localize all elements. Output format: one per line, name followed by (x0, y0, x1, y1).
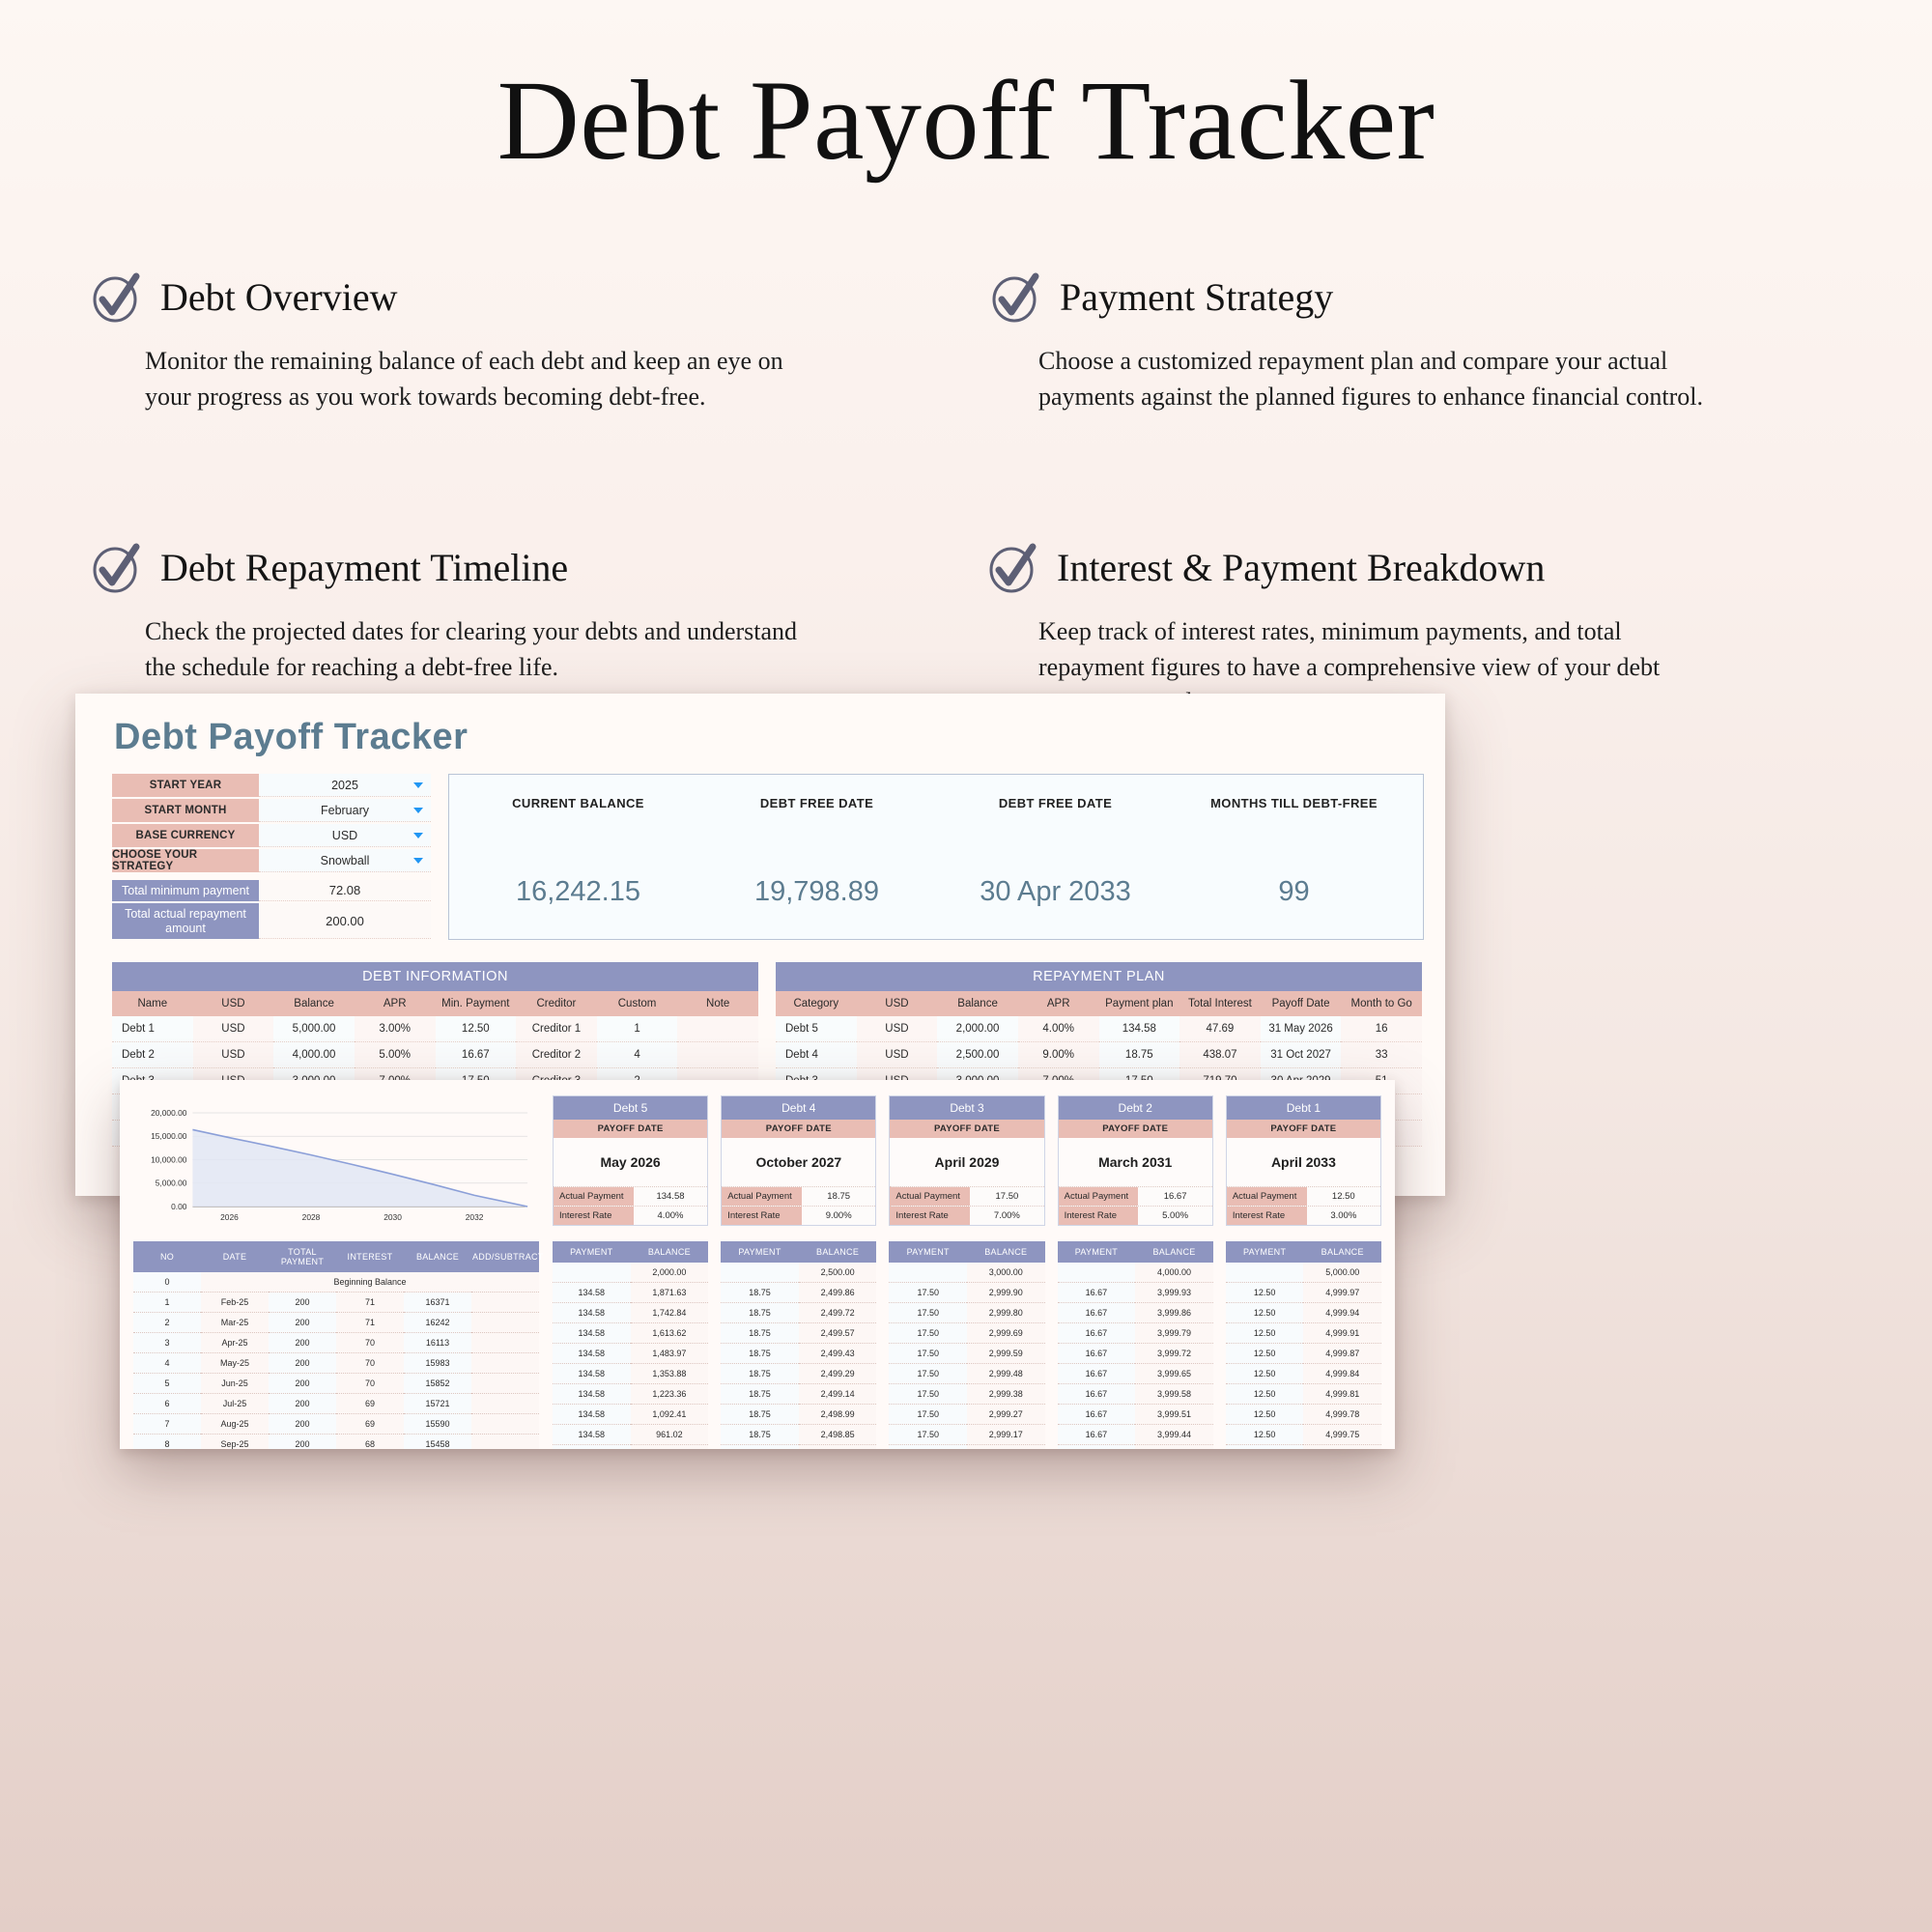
table-cell: 17.50 (889, 1323, 967, 1344)
feature-title: Payment Strategy (1060, 274, 1333, 320)
column-header: Custom (597, 991, 678, 1016)
table-row[interactable]: 134.581,223.36 (553, 1384, 708, 1405)
debt-card[interactable]: Debt 1PAYOFF DATEApril 2033Actual Paymen… (1226, 1095, 1381, 1226)
table-cell: 961.02 (631, 1425, 709, 1445)
features-grid: Debt Overview Monitor the remaining bala… (0, 184, 1932, 722)
debt-card-title: Debt 3 (890, 1096, 1043, 1120)
table-cell: 5,000.00 (273, 1016, 355, 1042)
table-cell: 2,000.00 (631, 1263, 709, 1283)
table-cell: USD (857, 1042, 938, 1068)
table-cell: 15983 (404, 1353, 471, 1374)
table-row[interactable]: 4May-252007015983 (133, 1353, 539, 1374)
table-row[interactable]: 3Apr-252007016113 (133, 1333, 539, 1353)
table-row[interactable]: 2,500.00 (721, 1263, 876, 1283)
debt-card-subtitle: PAYOFF DATE (554, 1120, 707, 1138)
table-cell: 4,999.97 (1303, 1283, 1381, 1303)
table-cell: 200 (269, 1333, 336, 1353)
totals-panel: Total minimum payment72.08Total actual r… (112, 880, 431, 939)
table-row[interactable]: 12.504,999.78 (1226, 1405, 1381, 1425)
debt-card-title: Debt 4 (722, 1096, 875, 1120)
debt-card-key: Interest Rate (890, 1207, 970, 1225)
table-cell: 1,742.84 (631, 1303, 709, 1323)
table-row[interactable]: 16.673,999.65 (1058, 1364, 1213, 1384)
table-cell: 200 (269, 1435, 336, 1450)
table-cell: 18.75 (721, 1445, 799, 1450)
setting-row[interactable]: BASE CURRENCYUSD (112, 824, 431, 847)
table-row[interactable]: 18.752,499.86 (721, 1283, 876, 1303)
column-header: BALANCE (1303, 1241, 1381, 1263)
table-row[interactable]: 134.58829.19 (553, 1445, 708, 1450)
table-row[interactable]: 12.504,999.87 (1226, 1344, 1381, 1364)
debt-card-value: 5.00% (1138, 1207, 1211, 1225)
table-cell: 68 (336, 1435, 404, 1450)
table-cell: 134.58 (553, 1405, 631, 1425)
table-row[interactable]: 16.673,999.44 (1058, 1425, 1213, 1445)
total-value: 200.00 (259, 903, 431, 939)
table-cell: 134.58 (553, 1344, 631, 1364)
feature-heading: Interest & Payment Breakdown (985, 541, 1843, 595)
table-row[interactable]: 16.673,999.72 (1058, 1344, 1213, 1364)
table-cell: 2,999.59 (967, 1344, 1045, 1364)
debt-card-row: Actual Payment12.50 (1227, 1186, 1380, 1206)
table-cell: Debt 4 (776, 1042, 857, 1068)
table-cell: 47.69 (1179, 1016, 1261, 1042)
table-cell: 2,499.14 (799, 1384, 877, 1405)
column-header: BALANCE (631, 1241, 709, 1263)
debt-card-row: Interest Rate4.00% (554, 1206, 707, 1225)
kpi-value: 16,242.15 (459, 876, 697, 914)
table-cell: 134.58 (553, 1303, 631, 1323)
table-row[interactable]: 0Beginning Balance (133, 1272, 539, 1293)
table-cell (1226, 1263, 1304, 1283)
table-row[interactable]: 17.502,999.48 (889, 1364, 1044, 1384)
table-row[interactable]: 134.58961.02 (553, 1425, 708, 1445)
table-row[interactable]: 4,000.00 (1058, 1263, 1213, 1283)
table-cell: 2,499.86 (799, 1283, 877, 1303)
column-header: PAYMENT (1058, 1241, 1136, 1263)
debt-schedule-table[interactable]: PAYMENTBALANCE3,000.0017.502,999.9017.50… (889, 1241, 1044, 1449)
table-cell: 134.58 (553, 1283, 631, 1303)
table-cell: 1 (133, 1293, 201, 1313)
table-row[interactable]: 18.752,499.72 (721, 1303, 876, 1323)
table-cell: 6 (133, 1394, 201, 1414)
table-cell: 134.58 (553, 1364, 631, 1384)
table-cell: 70 (336, 1353, 404, 1374)
chart-canvas: 0.005,000.0010,000.0015,000.0020,000.002… (133, 1105, 535, 1226)
table-cell: 2,999.90 (967, 1283, 1045, 1303)
table-cell (1058, 1263, 1136, 1283)
table-cell: 2,499.57 (799, 1323, 877, 1344)
table-cell: 200 (269, 1313, 336, 1333)
column-header: BALANCE (404, 1241, 471, 1272)
debt-card-title: Debt 5 (554, 1096, 707, 1120)
table-row[interactable]: 5,000.00 (1226, 1263, 1381, 1283)
table-cell: 16.67 (1058, 1364, 1136, 1384)
table-cell: 16.67 (1058, 1445, 1136, 1450)
column-header: PAYMENT (721, 1241, 799, 1263)
table-cell: Debt 1 (112, 1016, 193, 1042)
table-banner: DEBT INFORMATION (112, 962, 758, 991)
table-cell: 18.75 (721, 1384, 799, 1405)
setting-value[interactable]: 2025 (259, 774, 431, 797)
debt-card-key: Interest Rate (722, 1207, 802, 1225)
table-cell: 134.58 (553, 1425, 631, 1445)
table-cell: 4.00% (1018, 1016, 1099, 1042)
table-row[interactable]: 17.502,999.69 (889, 1323, 1044, 1344)
table-cell: USD (193, 1042, 274, 1068)
table-cell: 2,498.99 (799, 1405, 877, 1425)
debt-card[interactable]: Debt 4PAYOFF DATEOctober 2027Actual Paym… (721, 1095, 876, 1226)
table-row[interactable]: 16.673,999.86 (1058, 1303, 1213, 1323)
table-cell: 438.07 (1179, 1042, 1261, 1068)
table-cell: 5.00% (355, 1042, 436, 1068)
table-cell: 3,999.58 (1135, 1384, 1213, 1405)
table-cell: 200 (269, 1394, 336, 1414)
table-row[interactable]: 16.673,999.51 (1058, 1405, 1213, 1425)
feature-heading: Debt Overview (89, 270, 947, 325)
setting-label: CHOOSE YOUR STRATEGY (112, 849, 259, 872)
table-cell: 16.67 (436, 1042, 517, 1068)
table-cell: 200 (269, 1293, 336, 1313)
column-header: Month to Go (1341, 991, 1422, 1016)
table-cell: 17.50 (889, 1445, 967, 1450)
table-row[interactable]: 134.581,353.88 (553, 1364, 708, 1384)
table-cell: 4,999.91 (1303, 1323, 1381, 1344)
kpi-value: 19,798.89 (697, 876, 936, 914)
debt-card-title: Debt 2 (1059, 1096, 1212, 1120)
debt-card-row: Interest Rate3.00% (1227, 1206, 1380, 1225)
balance-over-time-chart: 0.005,000.0010,000.0015,000.0020,000.002… (133, 1095, 539, 1226)
table-cell: 4,999.84 (1303, 1364, 1381, 1384)
svg-text:15,000.00: 15,000.00 (151, 1131, 187, 1141)
kpi-card: DEBT FREE DATE30 Apr 2033 (936, 796, 1175, 914)
table-row[interactable]: 18.752,499.29 (721, 1364, 876, 1384)
kpi-summary-panel: CURRENT BALANCE16,242.15DEBT FREE DATE19… (448, 774, 1424, 940)
table-cell: 18.75 (721, 1283, 799, 1303)
debt-card-subtitle: PAYOFF DATE (722, 1120, 875, 1138)
table-row[interactable]: 3,000.00 (889, 1263, 1044, 1283)
table-cell: 15590 (404, 1414, 471, 1435)
table-cell: 3,999.44 (1135, 1425, 1213, 1445)
table-cell: 2,499.29 (799, 1364, 877, 1384)
beginning-balance-cell: Beginning Balance (201, 1272, 539, 1293)
table-row[interactable]: 17.502,999.90 (889, 1283, 1044, 1303)
table-row[interactable]: 2Mar-252007116242 (133, 1313, 539, 1333)
table-cell: Feb-25 (201, 1293, 269, 1313)
table-cell: 16.67 (1058, 1425, 1136, 1445)
table-row[interactable]: 17.502,999.38 (889, 1384, 1044, 1405)
table-cell: 4,999.94 (1303, 1303, 1381, 1323)
column-header: Payoff Date (1261, 991, 1342, 1016)
table-cell: 4,000.00 (1135, 1263, 1213, 1283)
table-cell: 18.75 (721, 1405, 799, 1425)
column-header: TOTAL PAYMENT (269, 1241, 336, 1272)
debt-card-key: Actual Payment (890, 1187, 970, 1206)
column-header: NO (133, 1241, 201, 1272)
setting-row[interactable]: START YEAR2025 (112, 774, 431, 797)
table-row[interactable]: 16.673,999.79 (1058, 1323, 1213, 1344)
table-row[interactable]: 8Sep-252006815458 (133, 1435, 539, 1450)
detail-bottom-row: NODATETOTAL PAYMENTINTERESTBALANCEADD/SU… (133, 1241, 1381, 1449)
table-cell: 7 (133, 1414, 201, 1435)
table-cell: USD (193, 1016, 274, 1042)
chevron-down-icon[interactable] (413, 782, 423, 788)
page-title: Debt Payoff Tracker (0, 0, 1932, 184)
column-header: DATE (201, 1241, 269, 1272)
table-cell: 200 (269, 1374, 336, 1394)
feature-description: Choose a customized repayment plan and c… (1038, 344, 1715, 415)
table-cell: 15852 (404, 1374, 471, 1394)
table-cell (677, 1016, 758, 1042)
table-cell: 16113 (404, 1333, 471, 1353)
table-row[interactable]: 6Jul-252006915721 (133, 1394, 539, 1414)
table-row[interactable]: 7Aug-252006915590 (133, 1414, 539, 1435)
table-row[interactable]: Debt 5USD2,000.004.00%134.5847.6931 May … (776, 1016, 1422, 1042)
table-cell (721, 1263, 799, 1283)
table-cell: 16371 (404, 1293, 471, 1313)
table-row[interactable]: 18.752,499.14 (721, 1384, 876, 1405)
svg-text:10,000.00: 10,000.00 (151, 1154, 187, 1164)
chevron-down-icon[interactable] (413, 858, 423, 864)
table-row[interactable]: 18.752,498.70 (721, 1445, 876, 1450)
table-row[interactable]: 134.581,483.97 (553, 1344, 708, 1364)
feature-heading: Debt Repayment Timeline (89, 541, 947, 595)
table-row[interactable]: 18.752,499.57 (721, 1323, 876, 1344)
debt-card-key: Interest Rate (1059, 1207, 1139, 1225)
table-cell (677, 1042, 758, 1068)
chevron-down-icon[interactable] (413, 833, 423, 838)
kpi-card: DEBT FREE DATE19,798.89 (697, 796, 936, 914)
table-cell: 3,999.86 (1135, 1303, 1213, 1323)
total-row: Total minimum payment72.08 (112, 880, 431, 901)
table-cell: 16242 (404, 1313, 471, 1333)
column-header: Min. Payment (436, 991, 517, 1016)
table-cell: 12.50 (1226, 1425, 1304, 1445)
check-circle-icon (89, 270, 143, 325)
debt-card-value: 16.67 (1138, 1187, 1211, 1206)
table-cell: Jun-25 (201, 1374, 269, 1394)
table-cell: 17.50 (889, 1425, 967, 1445)
table-cell: 16.67 (1058, 1344, 1136, 1364)
table-row[interactable]: 17.502,999.27 (889, 1405, 1044, 1425)
table-row[interactable]: 12.504,999.81 (1226, 1384, 1381, 1405)
column-header: APR (355, 991, 436, 1016)
debt-card-row: Interest Rate7.00% (890, 1206, 1043, 1225)
debt-card-value: 134.58 (634, 1187, 707, 1206)
debt-card[interactable]: Debt 5PAYOFF DATEMay 2026Actual Payment1… (553, 1095, 708, 1226)
svg-text:20,000.00: 20,000.00 (151, 1108, 187, 1118)
table-cell: 69 (336, 1394, 404, 1414)
table-row[interactable]: 12.504,999.72 (1226, 1445, 1381, 1450)
debt-card-row: Actual Payment17.50 (890, 1186, 1043, 1206)
table-row[interactable]: 16.673,999.58 (1058, 1384, 1213, 1405)
table-row[interactable]: 18.752,499.43 (721, 1344, 876, 1364)
setting-row[interactable]: START MONTHFebruary (112, 799, 431, 822)
table-row[interactable]: 5Jun-252007015852 (133, 1374, 539, 1394)
table-cell: 16.67 (1058, 1283, 1136, 1303)
table-row[interactable]: 12.504,999.91 (1226, 1323, 1381, 1344)
table-cell: Debt 2 (112, 1042, 193, 1068)
table-cell: USD (857, 1016, 938, 1042)
table-cell: 16.67 (1058, 1384, 1136, 1405)
table-row[interactable]: 134.581,742.84 (553, 1303, 708, 1323)
table-row[interactable]: 134.581,871.63 (553, 1283, 708, 1303)
table-cell: 134.58 (553, 1445, 631, 1450)
table-cell: 4,999.87 (1303, 1344, 1381, 1364)
table-row[interactable]: Debt 2USD4,000.005.00%16.67Creditor 24 (112, 1042, 758, 1068)
column-header: Total Interest (1179, 991, 1261, 1016)
table-row[interactable]: 18.752,498.85 (721, 1425, 876, 1445)
svg-text:2026: 2026 (220, 1212, 239, 1222)
column-header: Balance (937, 991, 1018, 1016)
table-row[interactable]: 12.504,999.84 (1226, 1364, 1381, 1384)
table-cell: 31 May 2026 (1261, 1016, 1342, 1042)
check-circle-icon (89, 541, 143, 595)
debt-card-key: Interest Rate (554, 1207, 634, 1225)
table-cell: 70 (336, 1374, 404, 1394)
table-cell: May-25 (201, 1353, 269, 1374)
table-cell: Aug-25 (201, 1414, 269, 1435)
table-cell: 12.50 (1226, 1405, 1304, 1425)
setting-row[interactable]: CHOOSE YOUR STRATEGYSnowball (112, 849, 431, 872)
table-row[interactable]: 17.502,999.06 (889, 1445, 1044, 1450)
table-cell: 3,999.36 (1135, 1445, 1213, 1450)
debt-schedule-table[interactable]: PAYMENTBALANCE2,000.00134.581,871.63134.… (553, 1241, 708, 1449)
debt-card-payoff-date: March 2031 (1059, 1138, 1212, 1186)
svg-text:0.00: 0.00 (171, 1202, 187, 1211)
table-cell: 3,000.00 (967, 1263, 1045, 1283)
table-cell: 2,999.27 (967, 1405, 1045, 1425)
total-label: Total minimum payment (112, 880, 259, 901)
chevron-down-icon[interactable] (413, 808, 423, 813)
debt-card-subtitle: PAYOFF DATE (1227, 1120, 1380, 1138)
table-row[interactable]: 12.504,999.97 (1226, 1283, 1381, 1303)
debt-schedule-table[interactable]: PAYMENTBALANCE4,000.0016.673,999.9316.67… (1058, 1241, 1213, 1449)
table-cell: 70 (336, 1333, 404, 1353)
table-cell: 9.00% (1018, 1042, 1099, 1068)
table-cell: 12.50 (436, 1016, 517, 1042)
table-cell: 69 (336, 1414, 404, 1435)
table-row[interactable]: 12.504,999.75 (1226, 1425, 1381, 1445)
table-cell (471, 1435, 539, 1450)
table-row[interactable]: 2,000.00 (553, 1263, 708, 1283)
table-row[interactable]: 17.502,999.17 (889, 1425, 1044, 1445)
table-cell: 3,999.51 (1135, 1405, 1213, 1425)
debt-card[interactable]: Debt 2PAYOFF DATEMarch 2031Actual Paymen… (1058, 1095, 1213, 1226)
setting-value[interactable]: Snowball (259, 849, 431, 872)
table-row[interactable]: 134.581,092.41 (553, 1405, 708, 1425)
column-header: USD (857, 991, 938, 1016)
table-row[interactable]: 16.673,999.93 (1058, 1283, 1213, 1303)
per-debt-schedule-tables: PAYMENTBALANCE2,000.00134.581,871.63134.… (553, 1241, 1381, 1449)
table-cell (471, 1293, 539, 1313)
table-cell: 18.75 (721, 1364, 799, 1384)
table-cell: Apr-25 (201, 1333, 269, 1353)
amortization-schedule-table[interactable]: NODATETOTAL PAYMENTINTERESTBALANCEADD/SU… (133, 1241, 539, 1449)
setting-value[interactable]: USD (259, 824, 431, 847)
table-row[interactable]: Debt 1USD5,000.003.00%12.50Creditor 11 (112, 1016, 758, 1042)
table-cell: 3,999.79 (1135, 1323, 1213, 1344)
table-cell: 2,499.72 (799, 1303, 877, 1323)
table-row[interactable]: 134.581,613.62 (553, 1323, 708, 1344)
column-header: BALANCE (967, 1241, 1045, 1263)
table-cell: 4 (597, 1042, 678, 1068)
debt-card-subtitle: PAYOFF DATE (1059, 1120, 1212, 1138)
table-cell: Sep-25 (201, 1435, 269, 1450)
table-cell: 1,613.62 (631, 1323, 709, 1344)
table-cell (471, 1333, 539, 1353)
kpi-label: CURRENT BALANCE (459, 796, 697, 810)
table-cell (471, 1313, 539, 1333)
column-header: PAYMENT (553, 1241, 631, 1263)
debt-card[interactable]: Debt 3PAYOFF DATEApril 2029Actual Paymen… (889, 1095, 1044, 1226)
table-cell: 17.50 (889, 1384, 967, 1405)
table-cell: 5 (133, 1374, 201, 1394)
table-row[interactable]: 18.752,498.99 (721, 1405, 876, 1425)
debt-card-key: Actual Payment (722, 1187, 802, 1206)
spreadsheet-top-row: START YEAR2025START MONTHFebruaryBASE CU… (75, 758, 1445, 941)
svg-text:5,000.00: 5,000.00 (156, 1179, 187, 1188)
table-cell: 5,000.00 (1303, 1263, 1381, 1283)
table-banner: REPAYMENT PLAN (776, 962, 1422, 991)
table-cell (471, 1353, 539, 1374)
table-cell (471, 1394, 539, 1414)
table-cell: 134.58 (553, 1323, 631, 1344)
table-cell: 15721 (404, 1394, 471, 1414)
table-row[interactable]: 17.502,999.80 (889, 1303, 1044, 1323)
table-cell: 12.50 (1226, 1344, 1304, 1364)
svg-text:2028: 2028 (302, 1212, 321, 1222)
table-row[interactable]: 16.673,999.36 (1058, 1445, 1213, 1450)
setting-value[interactable]: February (259, 799, 431, 822)
table-row[interactable]: 12.504,999.94 (1226, 1303, 1381, 1323)
table-row[interactable]: Debt 4USD2,500.009.00%18.75438.0731 Oct … (776, 1042, 1422, 1068)
debt-card-key: Actual Payment (1227, 1187, 1307, 1206)
total-row: Total actual repayment amount200.00 (112, 903, 431, 939)
table-cell: 12.50 (1226, 1384, 1304, 1405)
spreadsheet-title: Debt Payoff Tracker (75, 694, 1445, 758)
debt-schedule-table[interactable]: PAYMENTBALANCE2,500.0018.752,499.8618.75… (721, 1241, 876, 1449)
table-row[interactable]: 1Feb-252007116371 (133, 1293, 539, 1313)
table-cell: 12.50 (1226, 1364, 1304, 1384)
svg-text:2032: 2032 (466, 1212, 484, 1222)
table-cell: 16 (1341, 1016, 1422, 1042)
table-cell: 4,999.81 (1303, 1384, 1381, 1405)
column-header: Category (776, 991, 857, 1016)
table-cell: 31 Oct 2027 (1261, 1042, 1342, 1068)
debt-card-key: Actual Payment (1059, 1187, 1139, 1206)
table-cell: 17.50 (889, 1344, 967, 1364)
table-cell: 829.19 (631, 1445, 709, 1450)
detail-top-row: 0.005,000.0010,000.0015,000.0020,000.002… (133, 1095, 1381, 1226)
table-cell: Creditor 1 (516, 1016, 597, 1042)
table-cell (889, 1263, 967, 1283)
column-header: APR (1018, 991, 1099, 1016)
feature-description: Monitor the remaining balance of each de… (145, 344, 821, 415)
table-cell: 1,092.41 (631, 1405, 709, 1425)
spreadsheet-detail-card[interactable]: 0.005,000.0010,000.0015,000.0020,000.002… (120, 1080, 1395, 1449)
table-cell: 134.58 (553, 1384, 631, 1405)
debt-schedule-table[interactable]: PAYMENTBALANCE5,000.0012.504,999.9712.50… (1226, 1241, 1381, 1449)
setting-label: START MONTH (112, 799, 259, 822)
kpi-card: CURRENT BALANCE16,242.15 (459, 796, 697, 914)
table-cell: 200 (269, 1414, 336, 1435)
table-cell: 2,999.38 (967, 1384, 1045, 1405)
total-label: Total actual repayment amount (112, 903, 259, 939)
table-cell (471, 1414, 539, 1435)
table-row[interactable]: 17.502,999.59 (889, 1344, 1044, 1364)
table-cell: 17.50 (889, 1283, 967, 1303)
